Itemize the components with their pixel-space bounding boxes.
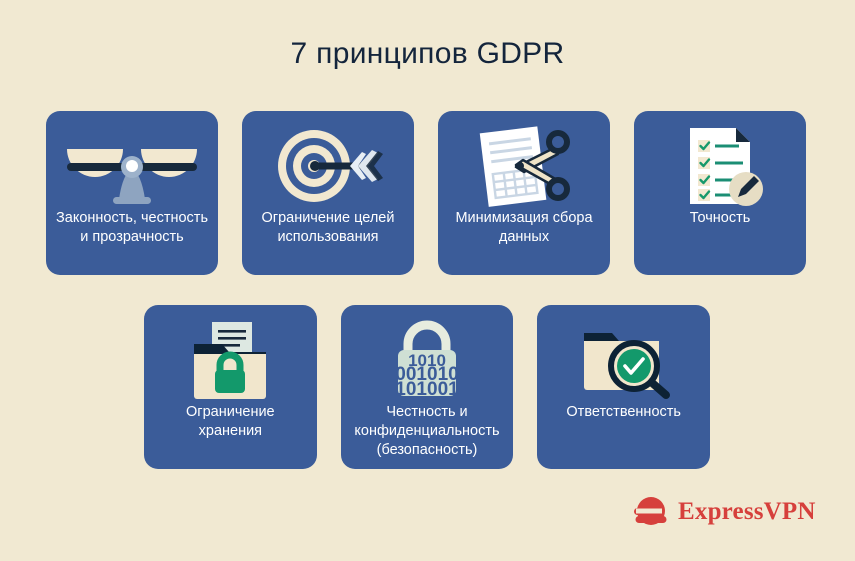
principle-card-integrity-confidentiality[interactable]: 1010 001010 101001 Честность и конфиденц… [341, 305, 514, 469]
expressvpn-e-mark-icon [634, 496, 668, 528]
principle-card-label: Ограничение целей использования [252, 209, 404, 247]
principle-card-label: Законность, честность и прозрачность [56, 209, 208, 247]
principle-card-data-minimisation[interactable]: Минимизация сбора данных [438, 111, 610, 275]
folder-with-lock-icon [154, 319, 307, 401]
expressvpn-wordmark: ExpressVPN [678, 498, 816, 526]
principle-card-label: Ограничение хранения [154, 403, 307, 441]
principles-row-bottom: Ограничение хранения 1010 001010 101001 … [144, 305, 710, 469]
principle-card-lawfulness[interactable]: Законность, честность и прозрачность [46, 111, 218, 275]
padlock-with-binary-icon: 1010 001010 101001 [351, 319, 504, 401]
scales-of-justice-icon [56, 125, 208, 207]
principle-card-label: Точность [644, 209, 796, 228]
folder-with-magnifier-check-icon [547, 319, 700, 401]
principle-card-label: Честность и конфиденциальность (безопасн… [351, 403, 504, 460]
principle-card-storage-limitation[interactable]: Ограничение хранения [144, 305, 317, 469]
document-with-scissors-icon [448, 125, 600, 207]
principle-card-purpose-limitation[interactable]: Ограничение целей использования [242, 111, 414, 275]
binary-line-3: 101001 [395, 379, 459, 400]
principle-card-accountability[interactable]: Ответственность [537, 305, 710, 469]
page-title: 7 принципов GDPR [0, 34, 855, 74]
principle-card-label: Ответственность [547, 403, 700, 422]
checklist-with-pencil-icon [644, 125, 796, 207]
expressvpn-logo[interactable]: ExpressVPN [634, 496, 816, 528]
infographic-poster: 7 принципов GDPR [0, 0, 855, 561]
principle-card-label: Минимизация сбора данных [448, 209, 600, 247]
principle-card-accuracy[interactable]: Точность [634, 111, 806, 275]
target-with-arrow-icon [252, 125, 404, 207]
principles-row-top: Законность, честность и прозрачность [46, 111, 810, 275]
